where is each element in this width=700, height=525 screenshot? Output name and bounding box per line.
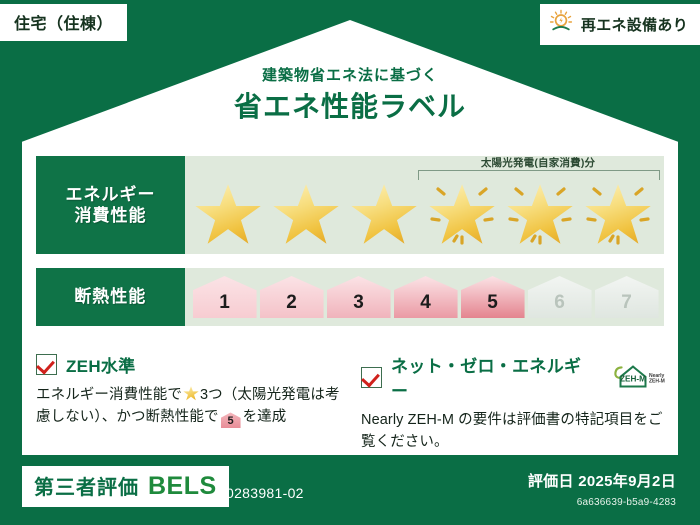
certification-checks: ZEH水準 エネルギー消費性能で3つ（太陽光発電は考慮しない）、かつ断熱性能で5…: [36, 352, 668, 454]
insulation-level-scale: 1234567: [193, 276, 659, 318]
energy-performance-key: エネルギー 消費性能: [36, 156, 185, 254]
bels-en-label: BELS: [148, 472, 217, 501]
solar-self-consumption-note: 太陽光発電(自家消費)分: [413, 155, 663, 170]
insulation-chip-2: 2: [260, 276, 324, 318]
label-footer: 第三者評価 BELS 0283981-02 評価日 2025年9月2日 6a63…: [0, 455, 700, 525]
energy-performance-row: エネルギー 消費性能 太陽光発電(自家消費)分: [36, 156, 664, 254]
sun-energy-icon: [548, 9, 574, 40]
energy-key-line-1: エネルギー: [66, 184, 156, 205]
svg-text:ZEH-M: ZEH-M: [620, 375, 646, 384]
check-nze-title: ネット・ゼロ・エネルギー: [391, 352, 597, 402]
energy-star-5: [501, 175, 579, 249]
check-nze-body: Nearly ZEH-M の要件は評価書の特記項目をご覧ください。: [361, 409, 668, 454]
inline-star-icon: [183, 386, 199, 401]
zeh-m-house-logo-icon: ZEH-M Nearly ZEH-M: [612, 364, 668, 390]
insulation-performance-key: 断熱性能: [36, 268, 185, 326]
bels-third-party-mark: 第三者評価 BELS: [22, 466, 229, 507]
energy-star-3: [345, 175, 423, 249]
label-subtitle: 建築物省エネ法に基づく: [0, 64, 700, 85]
inline-insulation-chip-icon: 5: [221, 412, 241, 428]
star-icon: [272, 183, 340, 247]
insulation-chip-7: 7: [595, 276, 659, 318]
check-zeh-header: ZEH水準: [36, 352, 343, 377]
energy-star-4: [423, 175, 501, 249]
insulation-performance-value: 1234567: [185, 268, 664, 326]
bels-jp-label: 第三者評価: [34, 471, 139, 500]
energy-star-6: [579, 175, 657, 249]
building-type-tag: 住宅（住棟）: [0, 4, 127, 41]
star-icon: [350, 183, 418, 247]
insulation-key-label: 断熱性能: [74, 286, 146, 307]
svg-text:ZEH-M: ZEH-M: [649, 379, 665, 385]
energy-key-line-2: 消費性能: [75, 205, 147, 226]
star-icon: [194, 183, 262, 247]
energy-star-1: [189, 175, 267, 249]
insulation-chip-5: 5: [461, 276, 525, 318]
check-net-zero-energy: ネット・ゼロ・エネルギー ZEH-M Nearly ZEH-M Nearly Z…: [361, 352, 668, 454]
renewable-badge-label: 再エネ設備あり: [581, 14, 688, 35]
record-id: 6a636639-b5a9-4283: [577, 497, 676, 508]
check-zeh-body: エネルギー消費性能で3つ（太陽光発電は考慮しない）、かつ断熱性能で5を達成: [36, 384, 343, 429]
check-zeh-title: ZEH水準: [66, 352, 136, 377]
insulation-chip-6: 6: [528, 276, 592, 318]
energy-star-rating: [189, 175, 657, 249]
insulation-chip-1: 1: [193, 276, 257, 318]
insulation-chip-4: 4: [394, 276, 458, 318]
bels-certificate-number: 0283981-02: [226, 485, 304, 501]
check-zeh-standard: ZEH水準 エネルギー消費性能で3つ（太陽光発電は考慮しない）、かつ断熱性能で5…: [36, 352, 343, 454]
insulation-performance-row: 断熱性能 1234567: [36, 268, 664, 326]
check-zeh-body-part-1: エネルギー消費性能で: [36, 387, 182, 403]
energy-performance-label: 住宅（住棟） 再エネ設備あり 建築物省エネ法に基づく 省エネ性能: [0, 0, 700, 525]
check-nze-header: ネット・ゼロ・エネルギー ZEH-M Nearly ZEH-M: [361, 352, 668, 402]
checkmark-icon-nze: [361, 367, 382, 388]
checkmark-icon-zeh: [36, 354, 57, 375]
page-title: 省エネ性能ラベル: [0, 85, 700, 125]
energy-star-2: [267, 175, 345, 249]
renewable-equipment-badge: 再エネ設備あり: [540, 4, 700, 45]
evaluation-date: 評価日 2025年9月2日: [528, 470, 676, 491]
check-zeh-body-part-3: を達成: [243, 409, 287, 425]
energy-performance-value: 太陽光発電(自家消費)分: [185, 156, 664, 254]
insulation-chip-3: 3: [327, 276, 391, 318]
